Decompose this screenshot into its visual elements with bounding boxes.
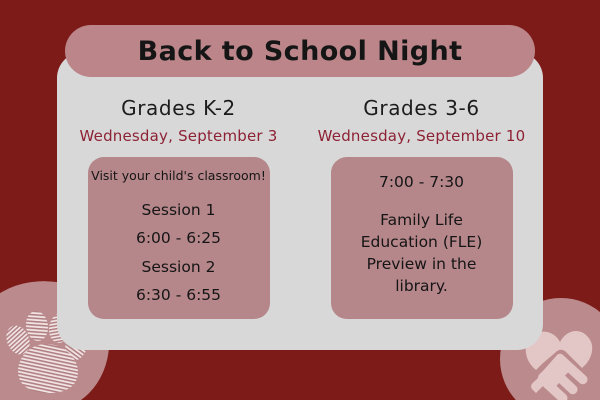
session-1-label: Session 1 [142,201,216,220]
column-date-right: Wednesday, September 10 [318,127,526,145]
column-heading-right: Grades 3-6 [363,96,479,120]
column-grades-3-6: Grades 3-6 Wednesday, September 10 7:00 … [300,88,543,328]
poster-canvas: Back to School Night Grades K-2 Wednesda… [0,0,600,400]
schedule-card-left: Visit your child's classroom! Session 1 … [88,157,270,319]
fle-preview-description: Family Life Education (FLE) Preview in t… [345,209,499,297]
fle-preview-time: 7:00 - 7:30 [379,173,464,191]
classroom-visit-note: Visit your child's classroom! [91,168,266,183]
session-2-time: 6:30 - 6:55 [136,286,221,305]
poster-title-bar: Back to School Night [65,25,535,77]
schedule-card-right: 7:00 - 7:30 Family Life Education (FLE) … [331,157,513,319]
session-2-label: Session 2 [142,258,216,277]
column-heading-left: Grades K-2 [121,96,236,120]
page-title: Back to School Night [138,36,463,67]
session-1-time: 6:00 - 6:25 [136,229,221,248]
column-grades-k-2: Grades K-2 Wednesday, September 3 Visit … [57,88,300,328]
columns-container: Grades K-2 Wednesday, September 3 Visit … [57,88,543,328]
column-date-left: Wednesday, September 3 [79,127,277,145]
